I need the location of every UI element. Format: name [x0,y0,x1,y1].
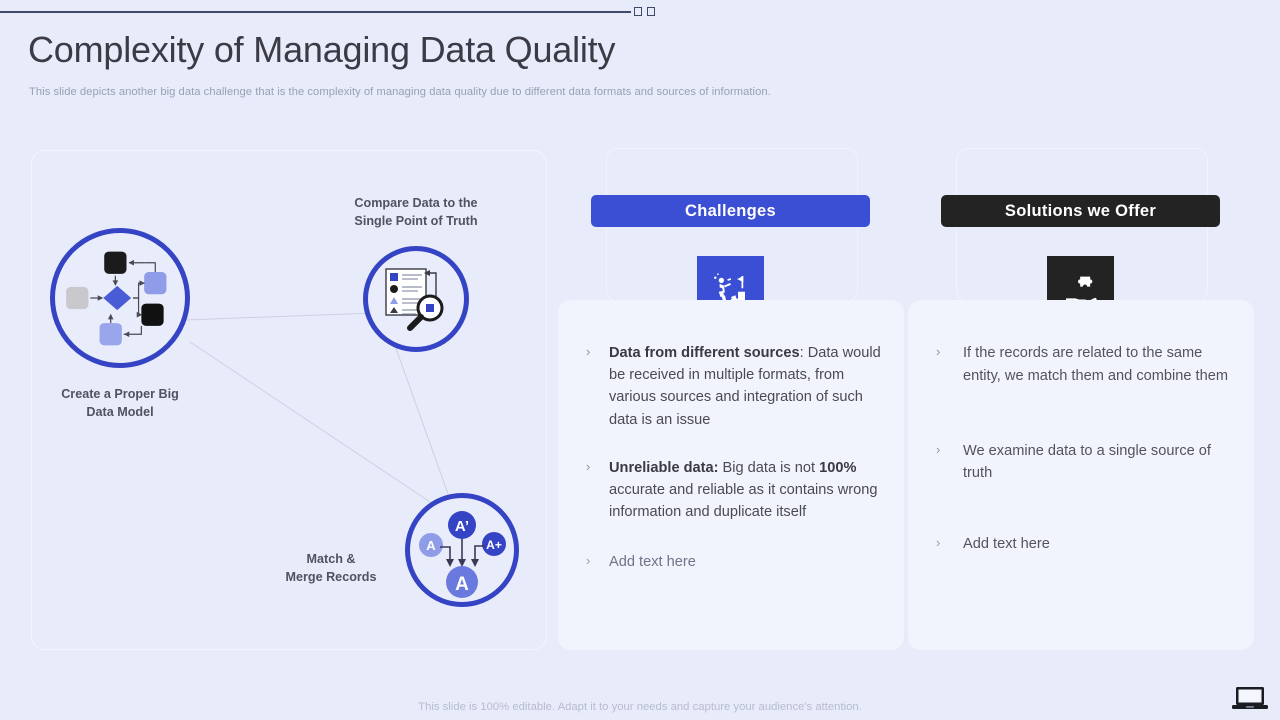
svg-text:A: A [455,574,469,595]
flowchart-icon [55,233,185,363]
challenges-heading[interactable]: Challenges [591,195,870,227]
chevron-right-icon: › [586,342,590,362]
challenges-content-card: › Data from different sources: Data woul… [558,300,904,650]
decor-square-1-icon [634,7,642,16]
chevron-right-icon: › [586,551,590,571]
page-title: Complexity of Managing Data Quality [28,30,615,70]
page-subtitle: This slide depicts another big data chal… [29,86,1029,98]
solutions-bullet-list: › If the records are related to the same… [936,342,1236,594]
chevron-right-icon: › [936,533,940,553]
chevron-right-icon: › [586,457,590,477]
solutions-heading[interactable]: Solutions we Offer [941,195,1220,227]
label-line-2: Single Point of Truth [354,214,477,228]
diagram-node-model-label: Create a Proper Big Data Model [40,386,200,422]
diagram-node-model[interactable] [50,228,190,368]
document-magnifier-icon [368,251,464,347]
svg-text:A: A [426,538,436,553]
label-line-2: Data Model [86,405,153,419]
bullet-text: Add text here [963,536,1050,552]
bullet-text: Add text here [609,554,696,570]
header-rule [0,11,631,13]
bullet-body-2: accurate and reliable as it contains wro… [609,482,878,520]
diagram-node-compare[interactable] [363,246,469,352]
label-line-1: Match & [307,552,356,566]
laptop-icon [1230,683,1270,713]
solutions-content-card: › If the records are related to the same… [908,300,1254,650]
label-line-1: Compare Data to the [354,196,477,210]
bullet-text: Data from different sources: Data would … [609,345,881,428]
bullet-text: We examine data to a single source of tr… [963,443,1211,482]
solutions-bullet-1[interactable]: › If the records are related to the same… [936,342,1236,388]
chevron-right-icon: › [936,342,940,362]
label-line-2: Merge Records [286,570,377,584]
bullet-lead: Data from different sources [609,345,800,361]
label-line-1: Create a Proper Big [61,387,179,401]
slide-canvas: Complexity of Managing Data Quality This… [0,0,1280,720]
solutions-bullet-2[interactable]: › We examine data to a single source of … [936,440,1236,486]
svg-text:A’: A’ [455,518,469,535]
solutions-bullet-3[interactable]: › Add text here [936,533,1236,556]
bullet-text: Unreliable data: Big data is not 100% ac… [609,460,878,520]
challenges-bullet-1[interactable]: › Data from different sources: Data woul… [586,342,886,431]
decor-square-2-icon [647,7,655,16]
bullet-body: Big data is not [718,460,819,476]
bullet-lead-2: 100% [819,460,856,476]
merge-records-icon: A’ A A+ A [410,498,514,602]
bullet-text: If the records are related to the same e… [963,345,1228,384]
chevron-right-icon: › [936,440,940,460]
bullet-lead: Unreliable data: [609,460,718,476]
challenges-bullet-list: › Data from different sources: Data woul… [586,342,886,599]
challenges-bullet-3[interactable]: › Add text here [586,551,886,573]
diagram-node-merge-label: Match & Merge Records [255,551,407,587]
diagram-node-compare-label: Compare Data to the Single Point of Trut… [333,195,499,231]
challenges-bullet-2[interactable]: › Unreliable data: Big data is not 100% … [586,457,886,524]
footer-note: This slide is 100% editable. Adapt it to… [0,701,1280,713]
diagram-node-merge[interactable]: A’ A A+ A [405,493,519,607]
svg-text:A+: A+ [486,538,502,552]
